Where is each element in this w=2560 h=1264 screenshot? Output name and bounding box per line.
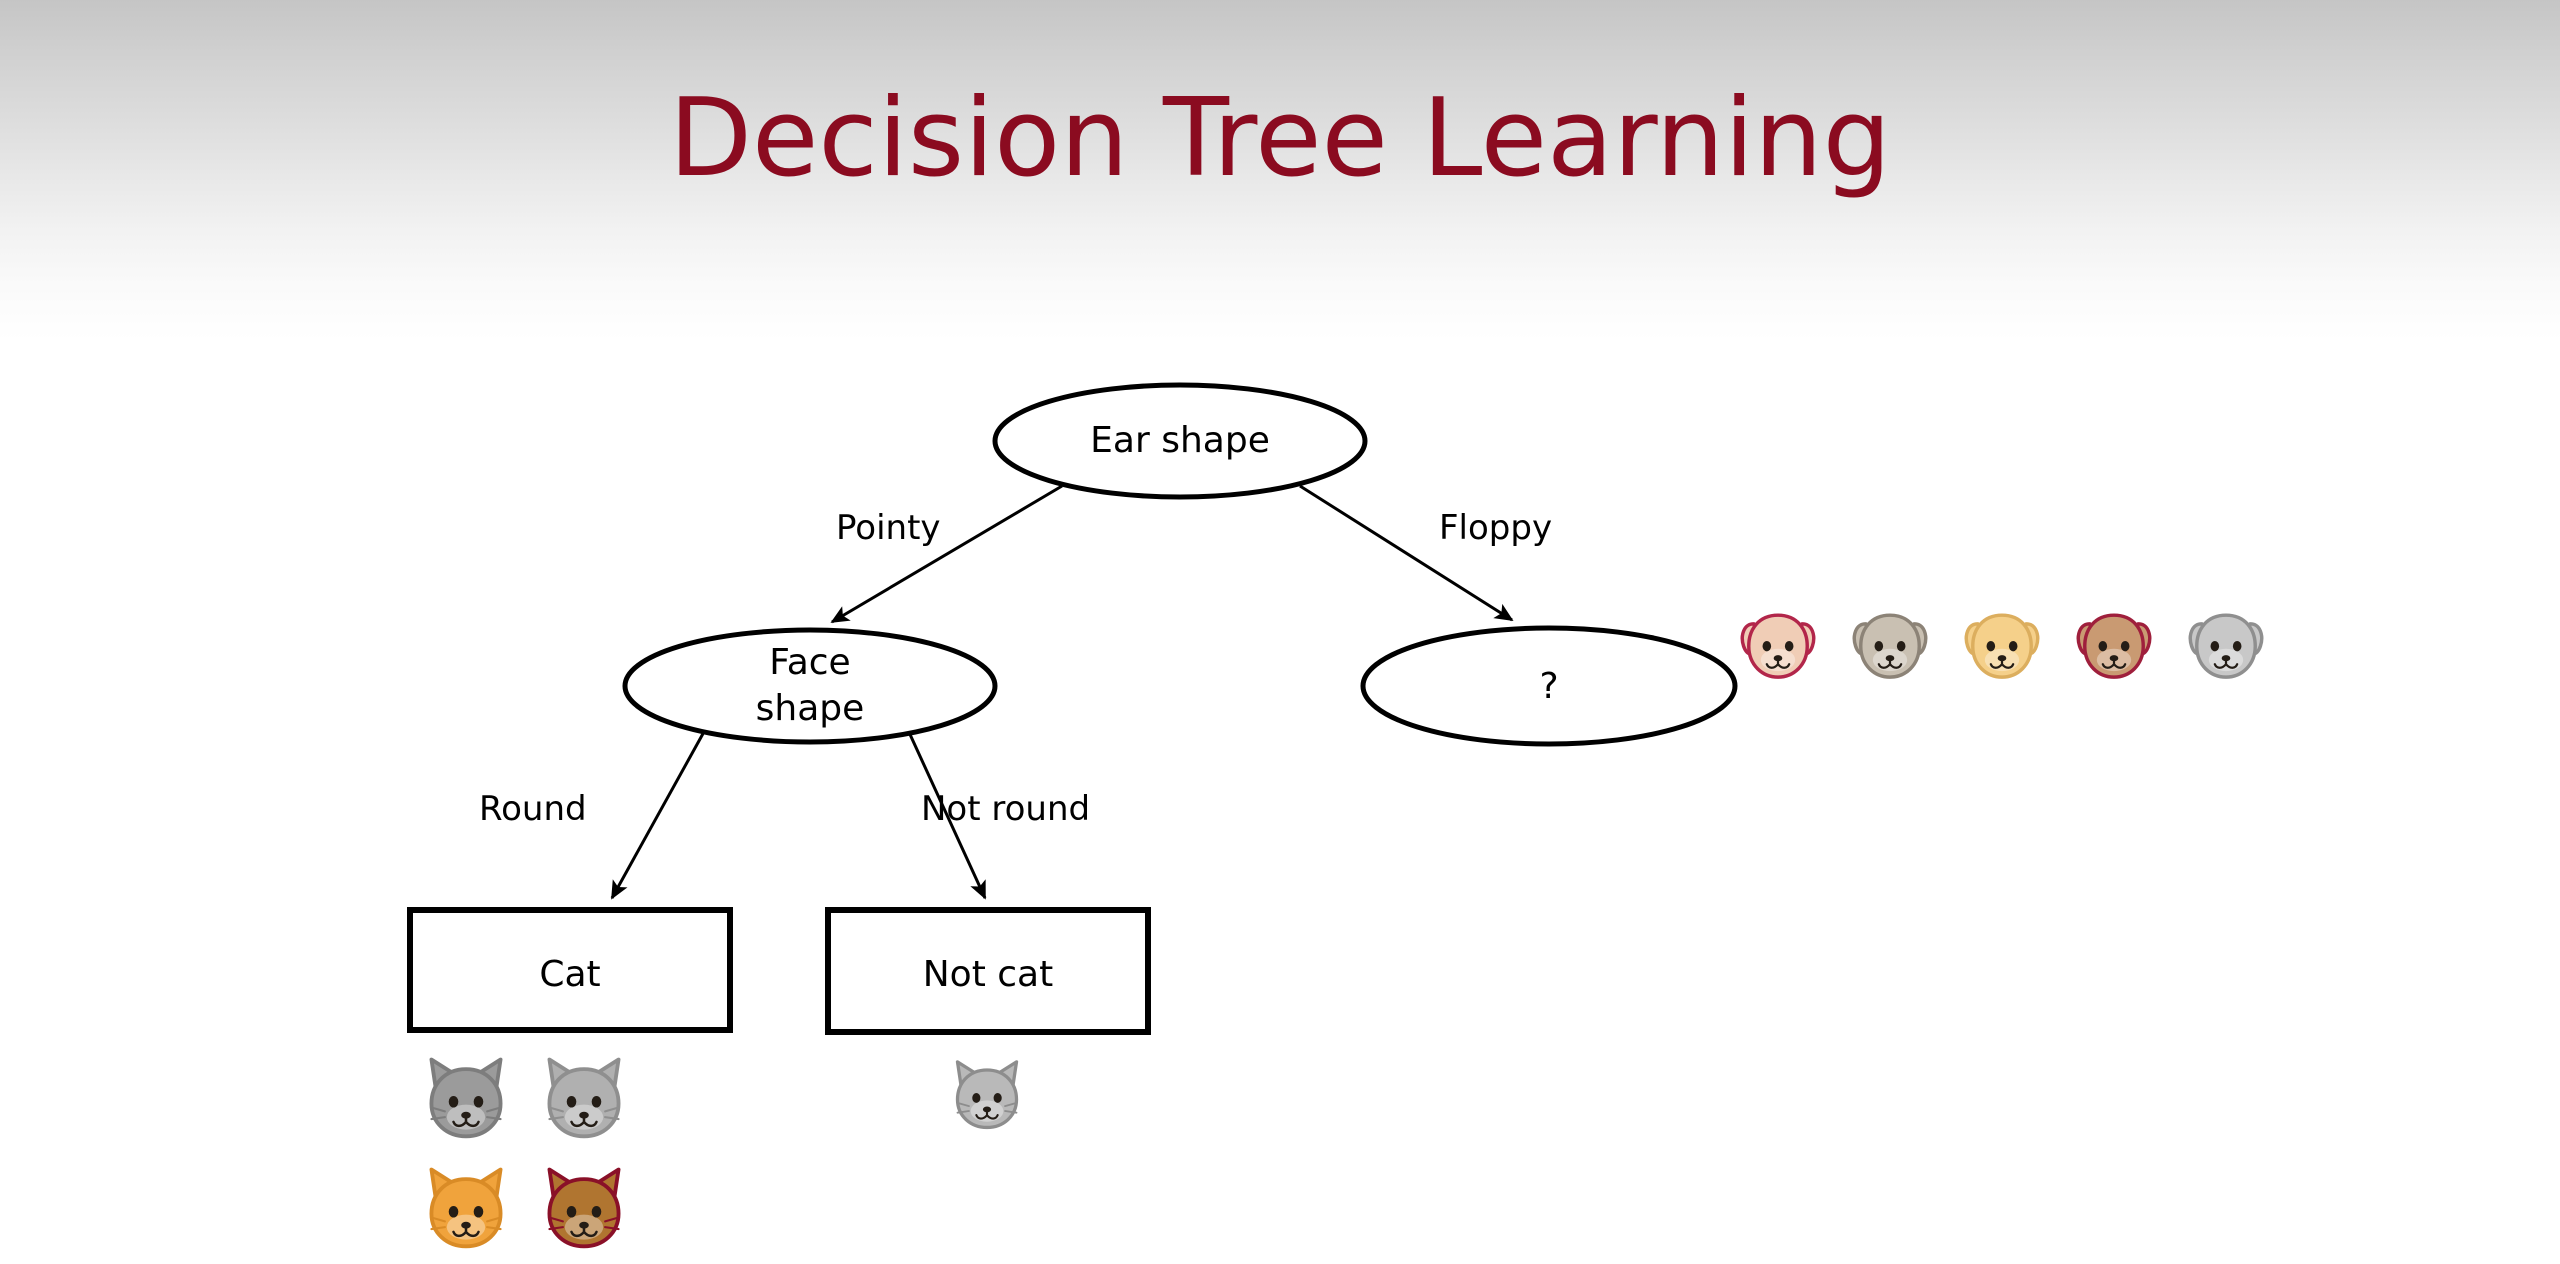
edge-label-not-round: Not round bbox=[921, 789, 1090, 829]
node-label-unknown: ? bbox=[1363, 664, 1735, 710]
edge-label-pointy: Pointy bbox=[836, 508, 941, 548]
edge-label-round: Round bbox=[479, 789, 587, 829]
edge-root-to-face bbox=[832, 486, 1062, 622]
slide-canvas: Decision Tree Learning Ear shape Face sh… bbox=[0, 0, 2560, 1264]
emoji-item bbox=[1959, 598, 2045, 684]
node-label-not-cat: Not cat bbox=[828, 952, 1148, 998]
emoji-group-cat-examples bbox=[418, 1048, 678, 1254]
edge-root-to-unknown bbox=[1300, 486, 1512, 620]
emoji-item bbox=[2183, 598, 2269, 684]
pug-face-icon bbox=[1847, 598, 1933, 684]
emoji-item bbox=[418, 1048, 514, 1144]
golden-retriever-face-icon bbox=[1959, 598, 2045, 684]
brown-cat-face-icon bbox=[536, 1158, 632, 1254]
grey-cat-face-wideeye-icon bbox=[536, 1048, 632, 1144]
node-label-ear-shape: Ear shape bbox=[995, 418, 1365, 464]
grey-dog-face-icon bbox=[2183, 598, 2269, 684]
emoji-item bbox=[1847, 598, 1933, 684]
node-label-cat: Cat bbox=[410, 952, 730, 998]
emoji-group-not-cat-examples bbox=[946, 1052, 1028, 1134]
edge-label-floppy: Floppy bbox=[1439, 508, 1552, 548]
emoji-item bbox=[2071, 598, 2157, 684]
emoji-item bbox=[536, 1158, 632, 1254]
grey-cat-face-smiling-icon bbox=[418, 1048, 514, 1144]
brown-dog-face-icon bbox=[2071, 598, 2157, 684]
emoji-item bbox=[418, 1158, 514, 1254]
edge-face-to-cat bbox=[612, 730, 705, 898]
emoji-item bbox=[536, 1048, 632, 1144]
orange-cat-face-icon bbox=[418, 1158, 514, 1254]
emoji-group-floppy-examples bbox=[1735, 598, 2269, 684]
emoji-item bbox=[1735, 598, 1821, 684]
wolf-face-icon bbox=[946, 1052, 1028, 1134]
node-label-face-shape: Face shape bbox=[625, 640, 995, 732]
poodle-face-icon bbox=[1735, 598, 1821, 684]
emoji-item bbox=[946, 1052, 1028, 1134]
